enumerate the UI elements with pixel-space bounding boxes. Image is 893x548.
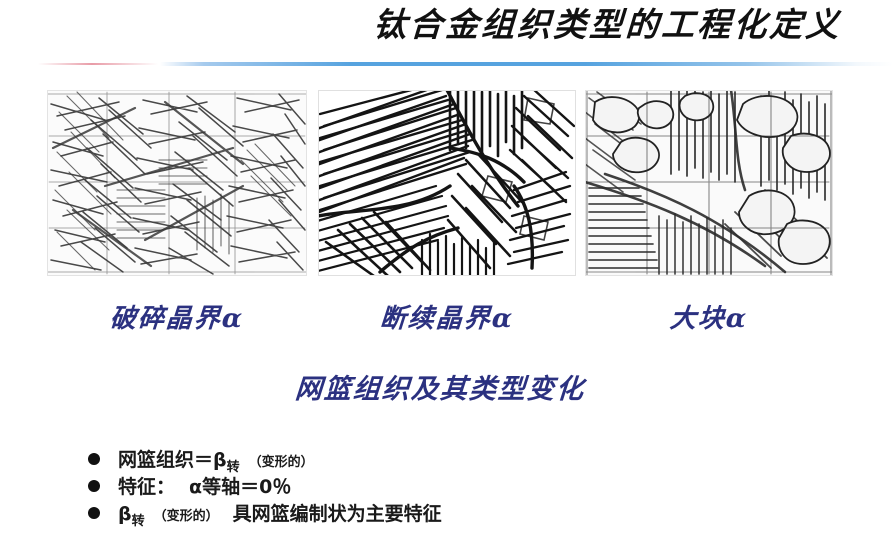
bullet-item-2-text: 特征：α等轴＝0％ [118, 475, 291, 502]
bullet-dot-icon [88, 507, 100, 519]
bullet-dot-icon [88, 480, 100, 492]
caption-discontinuous-grain-boundary-alpha: 断续晶界α [317, 302, 577, 336]
bullet-3-greek: β [118, 503, 132, 525]
title-divider [0, 62, 893, 68]
micrograph-blocky-alpha [585, 90, 833, 276]
caption-blocky-alpha: 大块α [584, 302, 834, 336]
bullet-item-3-text: β转（变形的）具网篮编制状为主要特征 [118, 502, 442, 534]
bullet-3-subscript: 转 [132, 514, 145, 529]
micrograph-discontinuous-grain-boundary-alpha [318, 90, 576, 276]
bullet-3-tail: 具网篮编制状为主要特征 [233, 503, 442, 525]
micrograph-2-image [318, 90, 576, 276]
bullet-1-paren: （变形的） [249, 455, 314, 470]
bullet-2-subscript: 等轴 [202, 476, 240, 498]
bullet-2-greek: α [189, 476, 202, 498]
bullet-2-main: 特征： [118, 476, 175, 498]
page-title: 钛合金组织类型的工程化定义 [329, 2, 886, 48]
micrograph-1-image [47, 90, 307, 276]
bullet-item-3: β转（变形的）具网篮编制状为主要特征 [88, 502, 878, 529]
bullet-1-greek: β [213, 449, 227, 471]
bullet-dot-icon [88, 453, 100, 465]
micrograph-3-image [585, 90, 833, 276]
bullet-2-tail: ＝0％ [240, 476, 291, 498]
bullet-1-main: 网篮组织＝ [118, 449, 213, 471]
caption-broken-grain-boundary-alpha: 破碎晶界α [46, 302, 308, 336]
bullet-3-paren: （变形的） [154, 509, 219, 524]
divider-blue-segment [160, 62, 893, 66]
bullet-item-1: 网篮组织＝β转（变形的） [88, 448, 878, 475]
section-subheading: 网篮组织及其类型变化 [0, 372, 881, 408]
bullet-1-subscript: 转 [227, 460, 240, 475]
bullet-item-2: 特征：α等轴＝0％ [88, 475, 878, 502]
micrograph-row [0, 90, 893, 282]
divider-pink-segment [38, 63, 158, 65]
bullet-list: 网篮组织＝β转（变形的） 特征：α等轴＝0％ β转（变形的）具网篮编制状为主要特… [88, 448, 878, 529]
micrograph-broken-grain-boundary-alpha [47, 90, 307, 276]
